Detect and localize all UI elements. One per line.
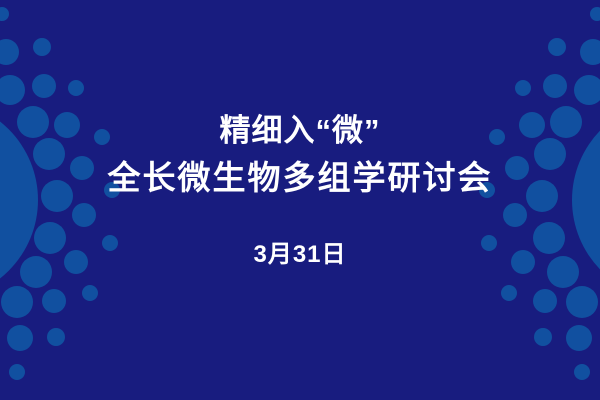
event-poster: 精细入“微” 全长微生物多组学研讨会 3月31日: [0, 0, 600, 400]
poster-text-block: 精细入“微” 全长微生物多组学研讨会 3月31日: [0, 0, 600, 400]
poster-title-line-1: 精细入“微”: [220, 112, 381, 151]
poster-title-line-2: 全长微生物多组学研讨会: [108, 157, 493, 198]
poster-date: 3月31日: [253, 234, 346, 269]
